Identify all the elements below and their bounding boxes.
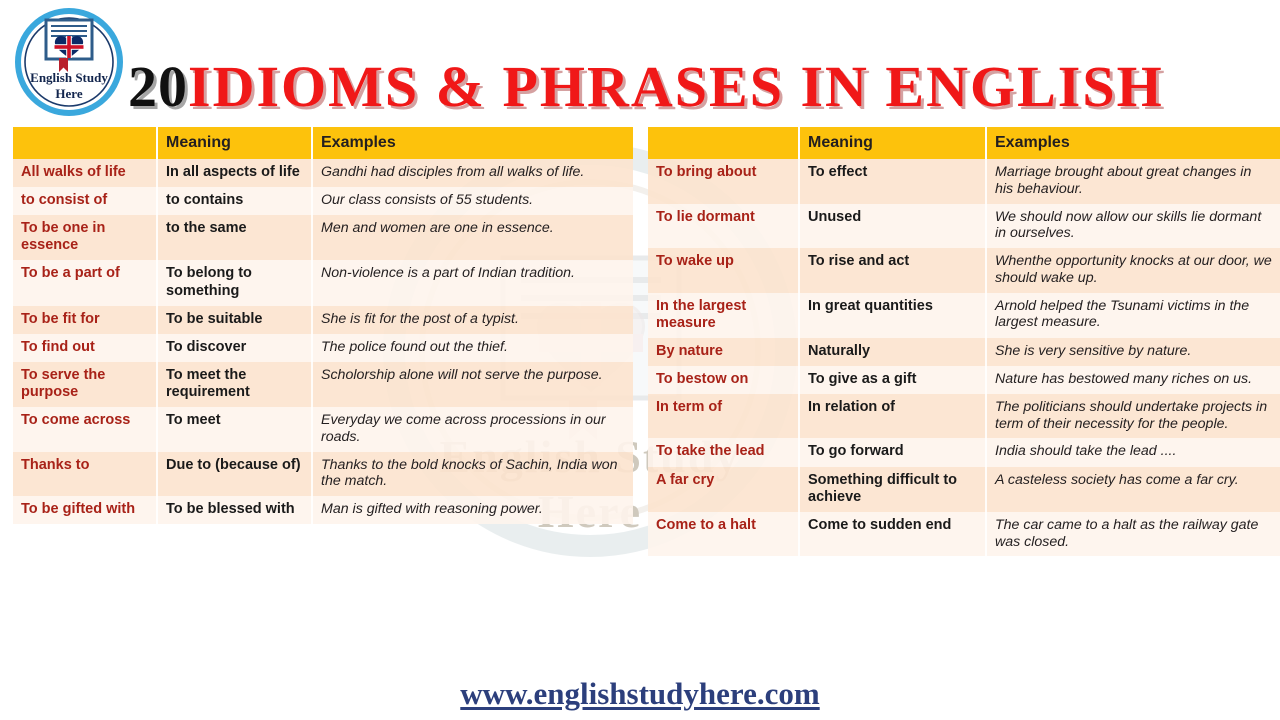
- idioms-table-right: Meaning Examples To bring aboutTo effect…: [648, 127, 1280, 556]
- cell-example: The police found out the thief.: [312, 334, 633, 362]
- cell-meaning: To discover: [157, 334, 312, 362]
- table-row: In the largest measureIn great quantitie…: [648, 293, 1280, 338]
- cell-meaning: Come to sudden end: [799, 512, 986, 557]
- table-row: To find outTo discoverThe police found o…: [13, 334, 633, 362]
- cell-example: Gandhi had disciples from all walks of l…: [312, 159, 633, 187]
- infographic-page: English Study Here: [0, 0, 1280, 720]
- table-row: To be gifted withTo be blessed withMan i…: [13, 496, 633, 524]
- table-row: Come to a haltCome to sudden endThe car …: [648, 512, 1280, 557]
- cell-meaning: To meet: [157, 407, 312, 452]
- cell-example: Man is gifted with reasoning power.: [312, 496, 633, 524]
- cell-idiom: In term of: [648, 394, 799, 439]
- title-text: IDIOMS & PHRASES IN ENGLISH: [188, 54, 1164, 119]
- cell-example: The politicians should undertake project…: [986, 394, 1280, 439]
- table-row: By natureNaturallyShe is very sensitive …: [648, 338, 1280, 366]
- cell-example: Everyday we come across processions in o…: [312, 407, 633, 452]
- table-row: To take the leadTo go forwardIndia shoul…: [648, 438, 1280, 466]
- table-row: To be one in essenceto the sameMen and w…: [13, 215, 633, 260]
- cell-idiom: To come across: [13, 407, 157, 452]
- column-header-idiom: [648, 127, 799, 159]
- table-row: To come acrossTo meetEveryday we come ac…: [13, 407, 633, 452]
- cell-idiom: A far cry: [648, 467, 799, 512]
- cell-idiom: To wake up: [648, 248, 799, 293]
- cell-idiom: To serve the purpose: [13, 362, 157, 407]
- idioms-table-left: Meaning Examples All walks of lifeIn all…: [13, 127, 633, 524]
- cell-meaning: In relation of: [799, 394, 986, 439]
- column-header-meaning: Meaning: [157, 127, 312, 159]
- cell-idiom: To be gifted with: [13, 496, 157, 524]
- cell-example: Arnold helped the Tsunami victims in the…: [986, 293, 1280, 338]
- cell-meaning: to the same: [157, 215, 312, 260]
- table-row: To serve the purposeTo meet the requirem…: [13, 362, 633, 407]
- title-number: 20: [128, 54, 188, 119]
- cell-meaning: To give as a gift: [799, 366, 986, 394]
- cell-example: She is very sensitive by nature.: [986, 338, 1280, 366]
- cell-idiom: To be one in essence: [13, 215, 157, 260]
- svg-text:Here: Here: [55, 86, 82, 101]
- cell-example: A casteless society has come a far cry.: [986, 467, 1280, 512]
- cell-example: Marriage brought about great changes in …: [986, 159, 1280, 204]
- cell-example: Whenthe opportunity knocks at our door, …: [986, 248, 1280, 293]
- table-row: To wake upTo rise and actWhenthe opportu…: [648, 248, 1280, 293]
- cell-meaning: Naturally: [799, 338, 986, 366]
- cell-example: Our class consists of 55 students.: [312, 187, 633, 215]
- cell-example: India should take the lead ....: [986, 438, 1280, 466]
- table-row: To be fit forTo be suitableShe is fit fo…: [13, 306, 633, 334]
- cell-idiom: To bring about: [648, 159, 799, 204]
- cell-example: She is fit for the post of a typist.: [312, 306, 633, 334]
- cell-idiom: to consist of: [13, 187, 157, 215]
- cell-idiom: Thanks to: [13, 452, 157, 497]
- cell-meaning: Unused: [799, 204, 986, 249]
- cell-meaning: To effect: [799, 159, 986, 204]
- table-row: A far crySomething difficult to achieveA…: [648, 467, 1280, 512]
- table-row: To be a part ofTo belong to somethingNon…: [13, 260, 633, 305]
- cell-idiom: To find out: [13, 334, 157, 362]
- cell-meaning: Something difficult to achieve: [799, 467, 986, 512]
- cell-example: Thanks to the bold knocks of Sachin, Ind…: [312, 452, 633, 497]
- table-row: Thanks toDue to (because of)Thanks to th…: [13, 452, 633, 497]
- cell-example: Scholorship alone will not serve the pur…: [312, 362, 633, 407]
- table-row: To bestow onTo give as a giftNature has …: [648, 366, 1280, 394]
- cell-idiom: To lie dormant: [648, 204, 799, 249]
- cell-example: We should now allow our skills lie dorma…: [986, 204, 1280, 249]
- cell-meaning: To rise and act: [799, 248, 986, 293]
- site-url[interactable]: www.englishstudyhere.com: [0, 676, 1280, 712]
- column-header-examples: Examples: [312, 127, 633, 159]
- cell-example: Non-violence is a part of Indian traditi…: [312, 260, 633, 305]
- cell-idiom: By nature: [648, 338, 799, 366]
- cell-meaning: To be blessed with: [157, 496, 312, 524]
- cell-idiom: All walks of life: [13, 159, 157, 187]
- table-body-right: To bring aboutTo effectMarriage brought …: [648, 159, 1280, 556]
- cell-idiom: To take the lead: [648, 438, 799, 466]
- page-title: 20IDIOMS & PHRASES IN ENGLISH: [128, 56, 1164, 118]
- table-header-row: Meaning Examples: [13, 127, 633, 159]
- column-header-meaning: Meaning: [799, 127, 986, 159]
- svg-text:English Study: English Study: [30, 70, 108, 85]
- cell-meaning: to contains: [157, 187, 312, 215]
- cell-meaning: To go forward: [799, 438, 986, 466]
- cell-example: The car came to a halt as the railway ga…: [986, 512, 1280, 557]
- table-row: to consist ofto containsOur class consis…: [13, 187, 633, 215]
- cell-example: Nature has bestowed many riches on us.: [986, 366, 1280, 394]
- site-url-text[interactable]: www.englishstudyhere.com: [460, 676, 819, 711]
- table-row: In term ofIn relation ofThe politicians …: [648, 394, 1280, 439]
- column-header-examples: Examples: [986, 127, 1280, 159]
- table-header-row: Meaning Examples: [648, 127, 1280, 159]
- cell-idiom: To be fit for: [13, 306, 157, 334]
- table-row: To bring aboutTo effectMarriage brought …: [648, 159, 1280, 204]
- table-row: All walks of lifeIn all aspects of lifeG…: [13, 159, 633, 187]
- table-body-left: All walks of lifeIn all aspects of lifeG…: [13, 159, 633, 524]
- cell-idiom: In the largest measure: [648, 293, 799, 338]
- cell-meaning: To be suitable: [157, 306, 312, 334]
- cell-idiom: To bestow on: [648, 366, 799, 394]
- cell-meaning: To meet the requirement: [157, 362, 312, 407]
- cell-idiom: Come to a halt: [648, 512, 799, 557]
- site-logo: English Study Here: [13, 6, 125, 118]
- table-row: To lie dormantUnusedWe should now allow …: [648, 204, 1280, 249]
- column-header-idiom: [13, 127, 157, 159]
- cell-example: Men and women are one in essence.: [312, 215, 633, 260]
- cell-meaning: In great quantities: [799, 293, 986, 338]
- cell-idiom: To be a part of: [13, 260, 157, 305]
- cell-meaning: In all aspects of life: [157, 159, 312, 187]
- cell-meaning: To belong to something: [157, 260, 312, 305]
- cell-meaning: Due to (because of): [157, 452, 312, 497]
